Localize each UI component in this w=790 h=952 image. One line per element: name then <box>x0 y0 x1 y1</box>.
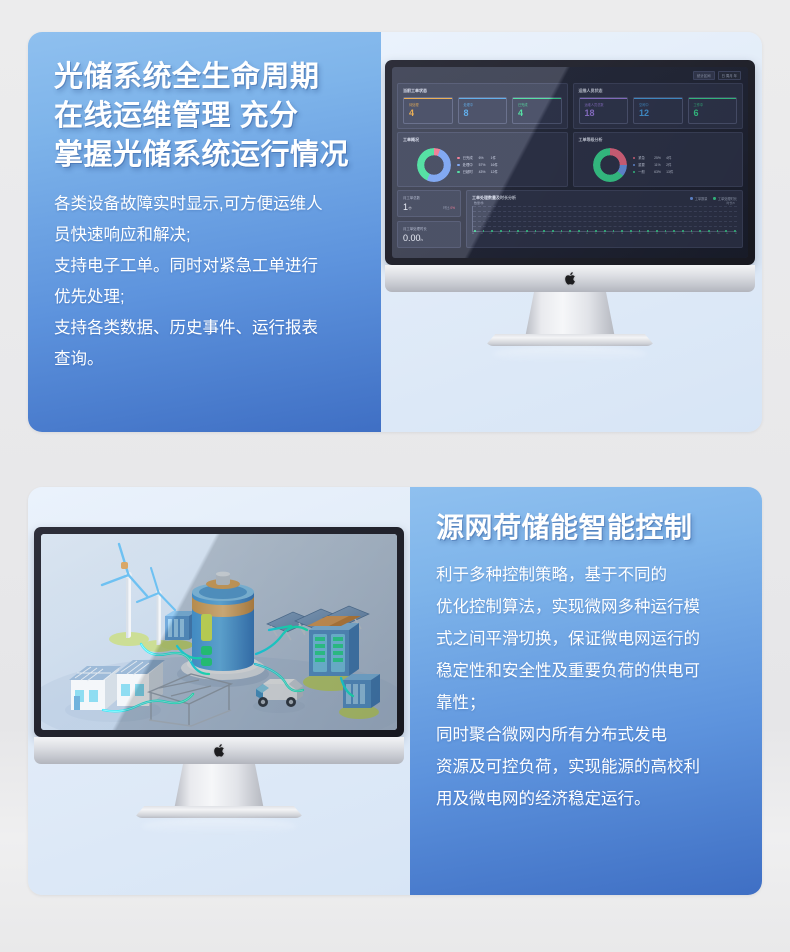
legend-count: 16件 <box>491 162 498 169</box>
workorder-trend-chart: 工单处理数量及时长分析 工单数量 工单处理时长 数量/件 时长/h <box>466 190 743 248</box>
monitor-screen-1: 统计区间 日 周月 年 当前工单状态 <box>392 67 748 258</box>
chart-point <box>483 230 485 232</box>
mini-value-unit: 个 <box>408 206 412 211</box>
delta-value: 0% <box>450 206 455 210</box>
kpi-value: 18 <box>585 108 624 119</box>
chart-point <box>639 230 641 232</box>
chart-point <box>630 230 632 232</box>
card-workorder-priority: 工单等级分析 紧急 25% 4件 <box>573 132 744 187</box>
battery-cabinet-left <box>161 611 197 650</box>
chart-legend-item[interactable]: 工单数量 <box>690 196 707 201</box>
section-2-body: 利于多种控制策略，基于不同的 优化控制算法，实现微网多种运行模 式之间平滑切换，… <box>436 559 736 815</box>
chart-point <box>734 230 736 232</box>
legend-color-dot <box>713 197 715 199</box>
legend-color-dot <box>633 157 636 160</box>
chart-point <box>595 230 597 232</box>
chart-data-points <box>473 230 737 232</box>
x-tick-label: 29 <box>717 233 719 235</box>
monitor-bezel-1: 统计区间 日 周月 年 当前工单状态 <box>385 60 755 265</box>
legend-name: 紧急 <box>638 155 651 162</box>
mini-value-number: 0.00 <box>403 233 421 243</box>
battery-cabinet-right <box>339 674 380 719</box>
kpi-accent-bar <box>634 98 682 99</box>
donut-ring <box>593 148 627 182</box>
kpi-pending[interactable]: 待处理 4 <box>403 97 453 124</box>
chart-point <box>725 230 727 232</box>
kpi-accent-bar <box>689 98 737 99</box>
x-tick-label: 04 <box>498 233 500 235</box>
section-1-heading: 光储系统全生命周期 在线运维管理 充分 掌握光储系统运行情况 <box>54 58 355 175</box>
legend-count: 1件 <box>491 155 496 162</box>
x-tick-label: 05 <box>507 233 509 235</box>
legend-color-dot <box>633 171 636 174</box>
x-tick-label: 16 <box>603 233 605 235</box>
card-title: 当前工单状态 <box>403 88 562 94</box>
x-tick-label: 19 <box>630 233 632 235</box>
x-tick-label: 13 <box>577 233 579 235</box>
legend-row: 已完成 6% 1件 <box>457 155 498 162</box>
dashboard-donut-row: 工单概况 已完成 6% 1件 <box>397 132 743 187</box>
kpi-value: 4 <box>518 108 557 119</box>
legend-row: 重要 11% 2件 <box>633 162 674 169</box>
dashboard-bottom-row: 月工单总数 1个 环比 0% <box>397 190 743 248</box>
chart-point <box>665 230 667 232</box>
x-tick-label: 22 <box>656 233 658 235</box>
delta-label: 环比 <box>443 206 449 210</box>
kpi-total-operators[interactable]: 运维人员总数 18 <box>579 97 629 124</box>
x-tick-label: 27 <box>700 233 702 235</box>
legend-name: 工单数量 <box>695 197 708 201</box>
section-1-body: 各类设备故障实时显示,可方便运维人 员快速响应和解决; 支持电子工单。同时对紧急… <box>54 189 355 375</box>
x-tick-label: 31 <box>735 233 737 235</box>
x-tick-label: 20 <box>638 233 640 235</box>
chart-x-axis-labels: 0102030405060708091011121314151617181920… <box>472 233 737 235</box>
chart-point <box>561 230 563 232</box>
monitor-bezel-2 <box>34 527 404 737</box>
mini-stat-value: 0.00h <box>403 233 455 243</box>
monitor-reflection-2 <box>142 818 296 834</box>
chart-point <box>673 230 675 232</box>
section-1-text-column: 光储系统全生命周期 在线运维管理 充分 掌握光储系统运行情况 各类设备故障实时显… <box>28 32 381 432</box>
chart-point <box>474 230 476 232</box>
y-axis-left-label: 数量/件 <box>474 201 484 205</box>
dashboard-filter-label[interactable]: 统计区间 <box>693 71 715 80</box>
chart-point <box>621 230 623 232</box>
legend-percent: 63% <box>654 169 663 176</box>
kpi-accent-bar <box>459 98 507 99</box>
section-1-panel: 光储系统全生命周期 在线运维管理 充分 掌握光储系统运行情况 各类设备故障实时显… <box>28 32 762 432</box>
section-2-panel: 源网荷储能智能控制 利于多种控制策略，基于不同的 优化控制算法，实现微网多种运行… <box>28 487 762 895</box>
x-tick-label: 24 <box>673 233 675 235</box>
donut-legend: 已完成 6% 1件 处理中 57% <box>457 155 498 176</box>
gridline <box>473 226 737 227</box>
mini-stat-delta: 环比 0% <box>443 205 455 210</box>
chart-point <box>578 230 580 232</box>
x-tick-label: 12 <box>568 233 570 235</box>
chart-point <box>699 230 701 232</box>
legend-percent: 43% <box>479 169 488 176</box>
chart-header: 工单处理数量及时长分析 工单数量 工单处理时长 <box>472 195 737 201</box>
monitor-screen-2 <box>41 534 397 730</box>
card-title: 运维人员状态 <box>579 88 738 94</box>
donut-legend: 紧急 25% 4件 重要 11% <box>633 155 674 176</box>
legend-color-dot <box>457 157 460 160</box>
chart-point <box>604 230 606 232</box>
x-tick-label: 06 <box>516 233 518 235</box>
monitor-neck-1 <box>525 292 615 338</box>
legend-percent: 11% <box>654 162 663 169</box>
legend-percent: 25% <box>654 155 663 162</box>
x-tick-label: 25 <box>682 233 684 235</box>
legend-row: 已超时 43% 12件 <box>457 169 498 176</box>
mini-stat-label: 月工单处理时长 <box>403 226 455 231</box>
kpi-label: 空闲中 <box>639 102 678 107</box>
chart-point <box>552 230 554 232</box>
apple-logo-icon <box>213 743 226 758</box>
legend-name: 重要 <box>638 162 651 169</box>
x-tick-label: 08 <box>533 233 535 235</box>
chart-point <box>491 230 493 232</box>
chart-point <box>647 230 649 232</box>
chart-point <box>517 230 519 232</box>
section-2-heading: 源网荷储能智能控制 <box>436 509 736 547</box>
chart-point <box>682 230 684 232</box>
x-tick-label: 21 <box>647 233 649 235</box>
legend-count: 13件 <box>666 169 673 176</box>
legend-color-dot <box>690 197 692 199</box>
legend-name: 已完成 <box>463 155 476 162</box>
legend-percent: 57% <box>479 162 488 169</box>
chart-point <box>717 230 719 232</box>
mini-stat-monthly-duration: 月工单处理时长 0.00h <box>397 221 461 248</box>
kpi-value: 6 <box>694 108 733 119</box>
chart-point <box>535 230 537 232</box>
x-tick-label: 15 <box>595 233 597 235</box>
mini-value-unit: h <box>421 237 423 242</box>
chart-point <box>691 230 693 232</box>
donut-chart-priority: 紧急 25% 4件 重要 11% <box>579 146 738 182</box>
mini-stats-column: 月工单总数 1个 环比 0% <box>397 190 461 248</box>
kpi-working[interactable]: 工作中 6 <box>688 97 738 124</box>
gridline <box>473 216 737 217</box>
legend-count: 4件 <box>666 155 671 162</box>
legend-color-dot <box>457 171 460 174</box>
kpi-accent-bar <box>580 98 628 99</box>
kpi-value: 12 <box>639 108 678 119</box>
kpi-value: 4 <box>409 108 448 119</box>
x-tick-label: 30 <box>726 233 728 235</box>
monitor-neck-2 <box>174 764 264 810</box>
promo-page: 光储系统全生命周期 在线运维管理 充分 掌握光储系统运行情况 各类设备故障实时显… <box>0 0 790 952</box>
x-tick-label: 28 <box>709 233 711 235</box>
x-tick-label: 09 <box>542 233 544 235</box>
energy-microgrid-illustration <box>41 534 397 730</box>
monitor-foot-2 <box>134 806 304 818</box>
section-2-image-column <box>28 487 410 895</box>
section-1-image-column: 统计区间 日 周月 年 当前工单状态 <box>381 32 762 432</box>
chart-point <box>526 230 528 232</box>
monitor-chin-1 <box>385 265 755 292</box>
y-axis-right-label: 时长/h <box>726 201 735 205</box>
kpi-accent-bar <box>404 98 452 99</box>
apple-logo-icon <box>564 271 577 286</box>
chart-point <box>569 230 571 232</box>
kpi-label: 工作中 <box>694 102 733 107</box>
legend-count: 2件 <box>666 162 671 169</box>
legend-row: 一般 63% 13件 <box>633 169 674 176</box>
kpi-accent-bar <box>513 98 561 99</box>
kpi-idle[interactable]: 空闲中 12 <box>633 97 683 124</box>
gridline <box>473 211 737 212</box>
monitor-chin-2 <box>34 737 404 764</box>
section-2-text-column: 源网荷储能智能控制 利于多种控制策略，基于不同的 优化控制算法，实现微网多种运行… <box>410 487 762 895</box>
imac-device-1: 统计区间 日 周月 年 当前工单状态 <box>385 60 755 400</box>
legend-name: 工单处理时长 <box>718 197 737 201</box>
legend-name: 处理中 <box>463 162 476 169</box>
card-operator-status: 运维人员状态 运维人员总数 18 <box>573 83 744 129</box>
legend-color-dot <box>457 164 460 167</box>
card-title: 工单概况 <box>403 137 562 143</box>
dashboard-topbar: 统计区间 日 周月 年 <box>397 71 743 80</box>
chart-point <box>587 230 589 232</box>
x-tick-label: 02 <box>481 233 483 235</box>
x-tick-label: 26 <box>691 233 693 235</box>
gridline <box>473 206 737 207</box>
mini-stat-monthly-total: 月工单总数 1个 环比 0% <box>397 190 461 217</box>
chart-legend-item[interactable]: 工单处理时长 <box>713 196 737 201</box>
x-tick-label: 01 <box>472 233 474 235</box>
chart-point <box>613 230 615 232</box>
chart-legend: 工单数量 工单处理时长 <box>690 196 737 201</box>
mini-stat-label: 月工单总数 <box>403 195 455 200</box>
x-tick-label: 23 <box>665 233 667 235</box>
legend-row: 紧急 25% 4件 <box>633 155 674 162</box>
legend-name: 已超时 <box>463 169 476 176</box>
x-tick-label: 10 <box>551 233 553 235</box>
monitor-foot-1 <box>485 334 655 346</box>
legend-row: 处理中 57% 16件 <box>457 162 498 169</box>
kpi-group: 待处理 4 处理中 8 <box>403 97 562 124</box>
chart-point <box>543 230 545 232</box>
kpi-label: 运维人员总数 <box>585 102 624 107</box>
kpi-label: 处理中 <box>464 102 503 107</box>
monitor-reflection-1 <box>493 346 647 362</box>
kpi-value: 8 <box>464 108 503 119</box>
chart-point <box>509 230 511 232</box>
chart-point <box>708 230 710 232</box>
x-tick-label: 07 <box>525 233 527 235</box>
legend-name: 一般 <box>638 169 651 176</box>
dashboard-kpi-row: 当前工单状态 待处理 4 <box>397 83 743 129</box>
kpi-group: 运维人员总数 18 空闲中 12 <box>579 97 738 124</box>
legend-color-dot <box>633 164 636 167</box>
card-title: 工单等级分析 <box>579 137 738 143</box>
imac-device-2 <box>34 527 404 872</box>
card-current-workorder-status: 当前工单状态 待处理 4 <box>397 83 568 129</box>
kpi-processing[interactable]: 处理中 8 <box>458 97 508 124</box>
donut-ring <box>417 148 451 182</box>
x-tick-label: 18 <box>621 233 623 235</box>
kpi-label: 已完成 <box>518 102 557 107</box>
chart-point <box>656 230 658 232</box>
legend-percent: 6% <box>479 155 488 162</box>
chart-point <box>500 230 502 232</box>
x-tick-label: 03 <box>490 233 492 235</box>
card-workorder-overview: 工单概况 已完成 6% 1件 <box>397 132 568 187</box>
gridline <box>473 221 737 222</box>
chart-plot-area <box>472 206 737 232</box>
kpi-label: 待处理 <box>409 102 448 107</box>
dashboard-date-range[interactable]: 日 周月 年 <box>718 71 741 80</box>
donut-chart-overview: 已完成 6% 1件 处理中 57% <box>403 146 562 182</box>
kpi-completed[interactable]: 已完成 4 <box>512 97 562 124</box>
x-tick-label: 11 <box>560 233 562 235</box>
ops-dashboard: 统计区间 日 周月 年 当前工单状态 <box>392 67 748 258</box>
legend-count: 12件 <box>491 169 498 176</box>
x-tick-label: 17 <box>612 233 614 235</box>
x-tick-label: 14 <box>586 233 588 235</box>
